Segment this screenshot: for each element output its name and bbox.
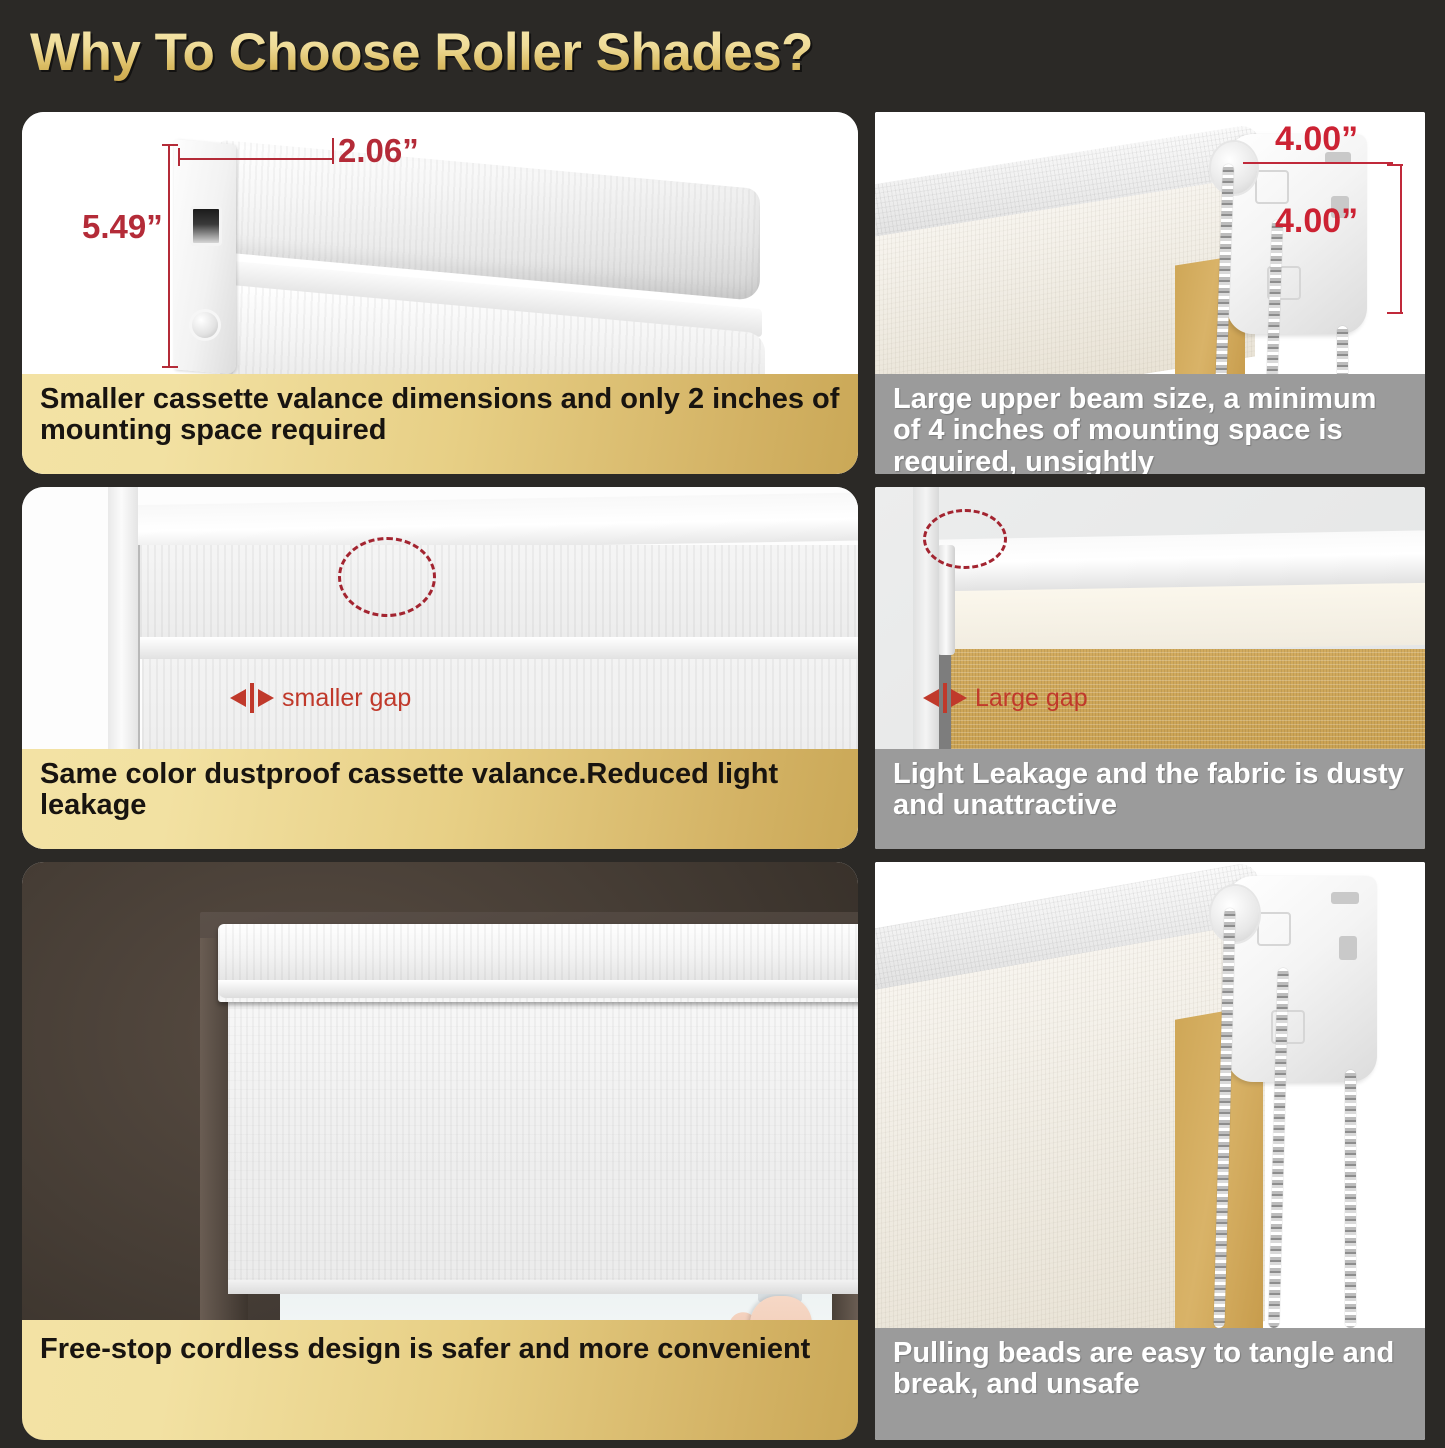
dimension-tick-bottom <box>162 366 178 368</box>
gap-marker-bar <box>250 683 254 713</box>
bracket-glyph-upper-icon <box>1257 912 1291 946</box>
dimension-tick-left <box>178 148 180 166</box>
dimension-tick-beam-bottom <box>1387 312 1403 314</box>
page-title: Why To Choose Roller Shades? <box>30 22 813 83</box>
shade-upper-band <box>140 545 858 639</box>
bracket-notch-top <box>1331 892 1359 904</box>
dimension-line-beam-width <box>1243 162 1393 164</box>
panel-con-beam-size: 4.00” 4.00” Large upper beam size, a min… <box>875 112 1425 474</box>
caption-con-light-leakage: Light Leakage and the fabric is dusty an… <box>875 749 1425 849</box>
panel-row-1: 5.49” 2.06” Smaller cassette valance dim… <box>0 108 1445 483</box>
gap-label-text: smaller gap <box>282 684 411 713</box>
panel-grid: 5.49” 2.06” Smaller cassette valance dim… <box>0 108 1445 1448</box>
gap-marker-bar <box>943 683 947 713</box>
infographic-page: Why To Choose Roller Shades? <box>0 0 1445 1445</box>
dimension-line-width <box>178 158 334 160</box>
caption-pro-cordless-design: Free-stop cordless design is safer and m… <box>22 1320 858 1440</box>
dimension-label-height: 5.49” <box>82 208 163 246</box>
roller-shade-fabric <box>228 998 858 1288</box>
highlight-ellipse-icon <box>338 537 436 617</box>
dimension-tick-top <box>162 144 178 146</box>
panel-pro-dustproof-valance: smaller gap Same color dustproof cassett… <box>22 487 858 849</box>
arrow-left-icon <box>923 689 939 707</box>
bead-chain-right <box>1345 1070 1356 1328</box>
dimension-label-beam-width: 4.00” <box>1275 120 1358 159</box>
dimension-tick-right <box>332 138 334 164</box>
panel-pro-cordless-design: Free-stop cordless design is safer and m… <box>22 862 858 1440</box>
bracket-notch-mid <box>1339 936 1357 960</box>
caption-pro-dustproof-valance: Same color dustproof cassette valance.Re… <box>22 749 858 849</box>
panel-row-3: Free-stop cordless design is safer and m… <box>0 858 1445 1448</box>
panel-con-pulling-beads: Pulling beads are easy to tangle and bre… <box>875 862 1425 1440</box>
annotation-smaller-gap: smaller gap <box>230 683 411 713</box>
shade-mid-rail <box>138 637 858 659</box>
highlight-ellipse-icon <box>923 509 1007 569</box>
gap-label-text: Large gap <box>975 684 1088 713</box>
cassette-valance-lip <box>218 980 858 998</box>
caption-pro-cassette-size: Smaller cassette valance dimensions and … <box>22 374 858 474</box>
dimension-line-height <box>168 144 170 368</box>
panel-row-2: smaller gap Same color dustproof cassett… <box>0 483 1445 858</box>
dimension-tick-beam-top <box>1387 164 1403 166</box>
valance-strip <box>947 583 1425 653</box>
caption-con-pulling-beads: Pulling beads are easy to tangle and bre… <box>875 1328 1425 1440</box>
roller-end-disc <box>1211 142 1257 194</box>
valance-end-cap <box>174 139 236 374</box>
arrow-left-icon <box>230 689 246 707</box>
arrow-right-icon <box>951 689 967 707</box>
dimension-label-beam-height: 4.00” <box>1275 202 1358 241</box>
panel-pro-cassette-size: 5.49” 2.06” Smaller cassette valance dim… <box>22 112 858 474</box>
bracket-glyph-upper-icon <box>1255 170 1289 204</box>
caption-con-beam-size: Large upper beam size, a minimum of 4 in… <box>875 374 1425 474</box>
arrow-right-icon <box>258 689 274 707</box>
shade-hem-bar <box>228 1280 858 1294</box>
dimension-label-width: 2.06” <box>338 132 419 170</box>
end-cap-knob <box>192 312 218 338</box>
panel-con-light-leakage: Large gap Light Leakage and the fabric i… <box>875 487 1425 849</box>
end-cap-slot <box>190 206 222 246</box>
annotation-large-gap: Large gap <box>923 683 1088 713</box>
dimension-line-beam-height <box>1400 164 1402 314</box>
